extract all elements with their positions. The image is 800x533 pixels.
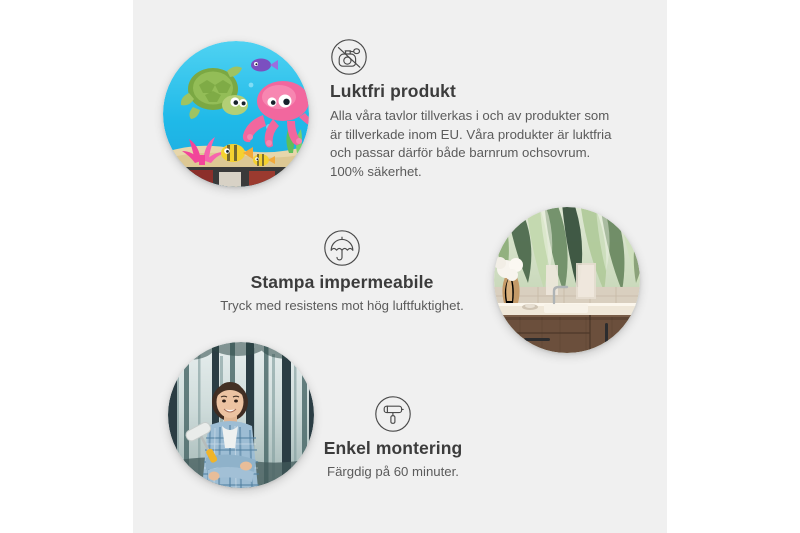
feature-title: Luktfri produkt	[330, 81, 630, 102]
feature-body: Alla våra tavlor tillverkas i och av pro…	[330, 107, 622, 181]
no-perfume-spray-icon	[330, 38, 368, 76]
promo-page: Luktfri produkt Alla våra tavlor tillver…	[0, 0, 800, 533]
paint-roller-icon	[374, 395, 412, 433]
underwater-cartoon-wallpaper-photo	[163, 41, 309, 187]
umbrella-icon	[323, 229, 361, 267]
bathroom-botanical-wallpaper-photo	[494, 207, 640, 353]
feature-easy-mounting: Enkel montering Färgdig på 60 minuter.	[243, 395, 543, 482]
feature-waterproof-print: Stampa impermeabile Tryck med resistens …	[192, 229, 492, 316]
feature-odour-free: Luktfri produkt Alla våra tavlor tillver…	[330, 38, 630, 181]
feature-title: Stampa impermeabile	[192, 272, 492, 293]
feature-body: Tryck med resistens mot hög luftfuktighe…	[192, 297, 492, 316]
feature-body: Färgdig på 60 minuter.	[243, 463, 543, 482]
feature-title: Enkel montering	[243, 438, 543, 459]
